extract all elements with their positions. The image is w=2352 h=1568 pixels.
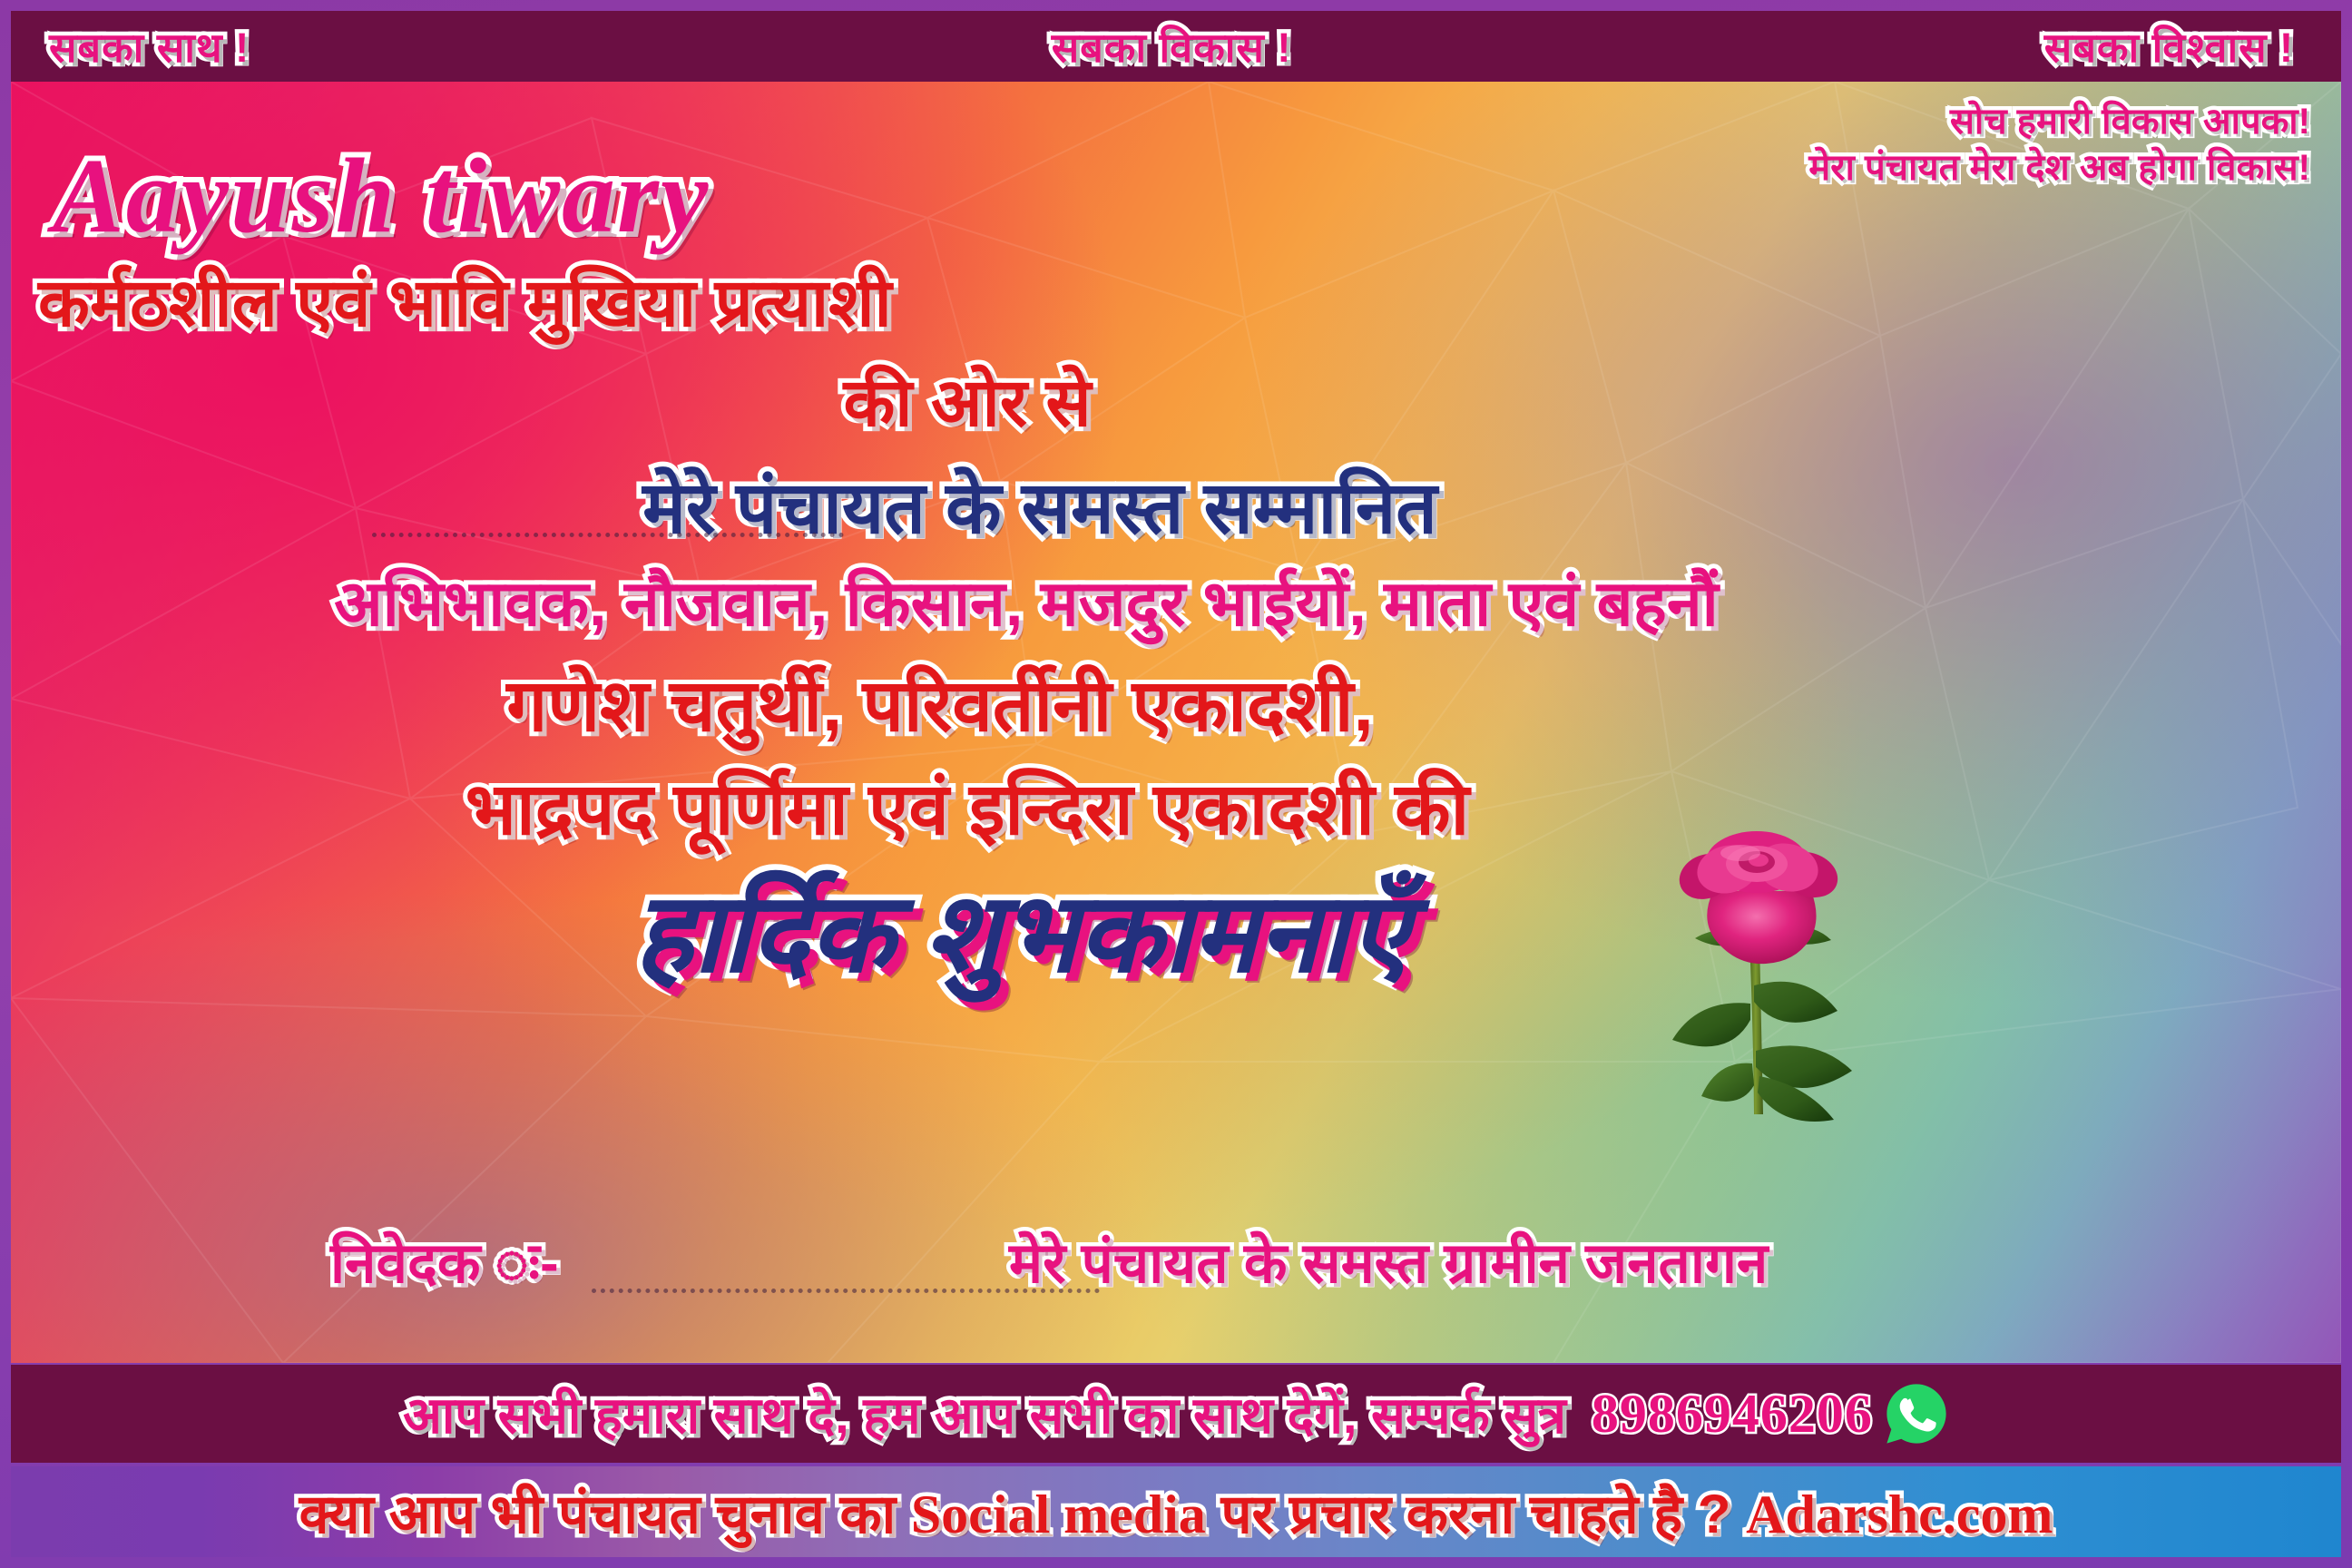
top-slogan-slot-center: सबका विकास ! [798, 19, 1546, 74]
footer-promo-social-media: Social media [911, 1485, 1206, 1544]
festival-line-1: गणेश चतुर्थी, परिवर्तीनी एकादशी, [11, 653, 2105, 752]
dotted-divider-1 [372, 533, 844, 537]
footer-contact-bar: आप सभी हमारा साथ दे, हम आप सभी का साथ दे… [11, 1365, 2341, 1463]
from-line: की ओर से [11, 354, 2132, 446]
top-slogan-2: सबका विकास ! [1052, 19, 1292, 74]
footer-promo-part-1: क्या आप भी पंचायत चुनाव का [299, 1484, 911, 1544]
festival-line-2: भाद्रपद पूर्णिमा एवं इन्दिरा एकादशी की [11, 757, 2132, 856]
top-slogan-slot-right: सबका विश्वास ! [1545, 19, 2341, 74]
greeting-headline: हार्दिक शुभकामनाएँ [11, 853, 2187, 1004]
addressee-line-1: मेरे पंचायत के समस्त सम्मानित [11, 456, 2205, 554]
election-greeting-poster: सबका साथ ! सबका विकास ! सबका विश्वास ! स… [0, 0, 2352, 1568]
footer-promo-text: क्या आप भी पंचायत चुनाव का Social media … [299, 1475, 2053, 1549]
dotted-divider-2 [592, 1289, 1100, 1293]
top-slogan-1: सबका साथ ! [49, 19, 250, 74]
whatsapp-icon[interactable] [1884, 1381, 1949, 1446]
corner-slogan-group: सोच हमारी विकास आपका! मेरा पंचायत मेरा द… [1808, 102, 2310, 194]
corner-slogan-2: मेरा पंचायत मेरा देश अब होगा विकास! [1808, 148, 2310, 189]
sender-value: मेरे पंचायत के समस्त ग्रामीन जनतागन [1009, 1223, 1768, 1299]
designation-line: कर्मठशील एवं भावि मुखिया प्रत्याशी [38, 254, 892, 346]
top-slogan-slot-left: सबका साथ ! [11, 19, 798, 74]
addressee-line-2: अभिभावक, नौजवान, किसान, मजदुर भाईयों, मा… [11, 557, 2191, 644]
footer-promo-bar: क्या आप भी पंचायत चुनाव का Social media … [11, 1466, 2341, 1557]
corner-slogan-1: सोच हमारी विकास आपका! [1808, 102, 2310, 142]
top-slogan-3: सबका विश्वास ! [2044, 19, 2294, 74]
poster-body: सोच हमारी विकास आपका! मेरा पंचायत मेरा द… [11, 82, 2341, 1363]
footer-promo-website[interactable]: Adarshc.com [1746, 1485, 2053, 1544]
footer-promo-part-2: पर प्रचार करना चाहते है ? [1206, 1484, 1746, 1544]
sender-label: निवेदक ः- [330, 1223, 559, 1299]
contact-phone-number[interactable]: 8986946206 [1592, 1383, 1873, 1445]
top-slogan-bar: सबका साथ ! सबका विकास ! सबका विश्वास ! [11, 11, 2341, 82]
candidate-name: Aayush tiwary [53, 134, 710, 258]
footer-support-text: आप सभी हमारा साथ दे, हम आप सभी का साथ दे… [403, 1379, 1566, 1448]
